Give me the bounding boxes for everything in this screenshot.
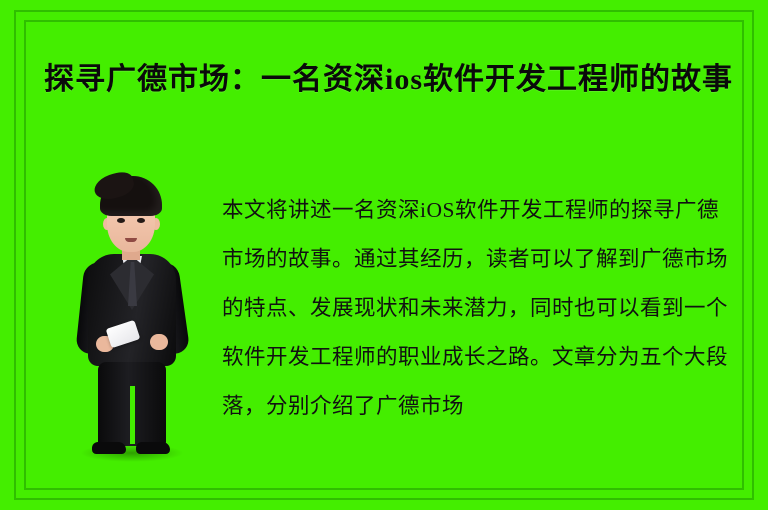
poster-canvas: 探寻广德市场：一名资深ios软件开发工程师的故事 本文将讲述一名资深iOS软件开… bbox=[0, 0, 768, 510]
figure-left-shoe bbox=[92, 442, 126, 454]
page-title: 探寻广德市场：一名资深ios软件开发工程师的故事 bbox=[44, 58, 734, 102]
figure-leg-gap bbox=[130, 386, 135, 444]
illustration-businessman bbox=[66, 176, 198, 472]
figure-left-eye bbox=[117, 218, 125, 223]
figure-right-shoe bbox=[136, 442, 170, 454]
figure-right-hand bbox=[150, 334, 168, 350]
figure-right-eye bbox=[137, 218, 145, 223]
article-body: 本文将讲述一名资深iOS软件开发工程师的探寻广德市场的故事。通过其经历，读者可以… bbox=[222, 186, 738, 431]
